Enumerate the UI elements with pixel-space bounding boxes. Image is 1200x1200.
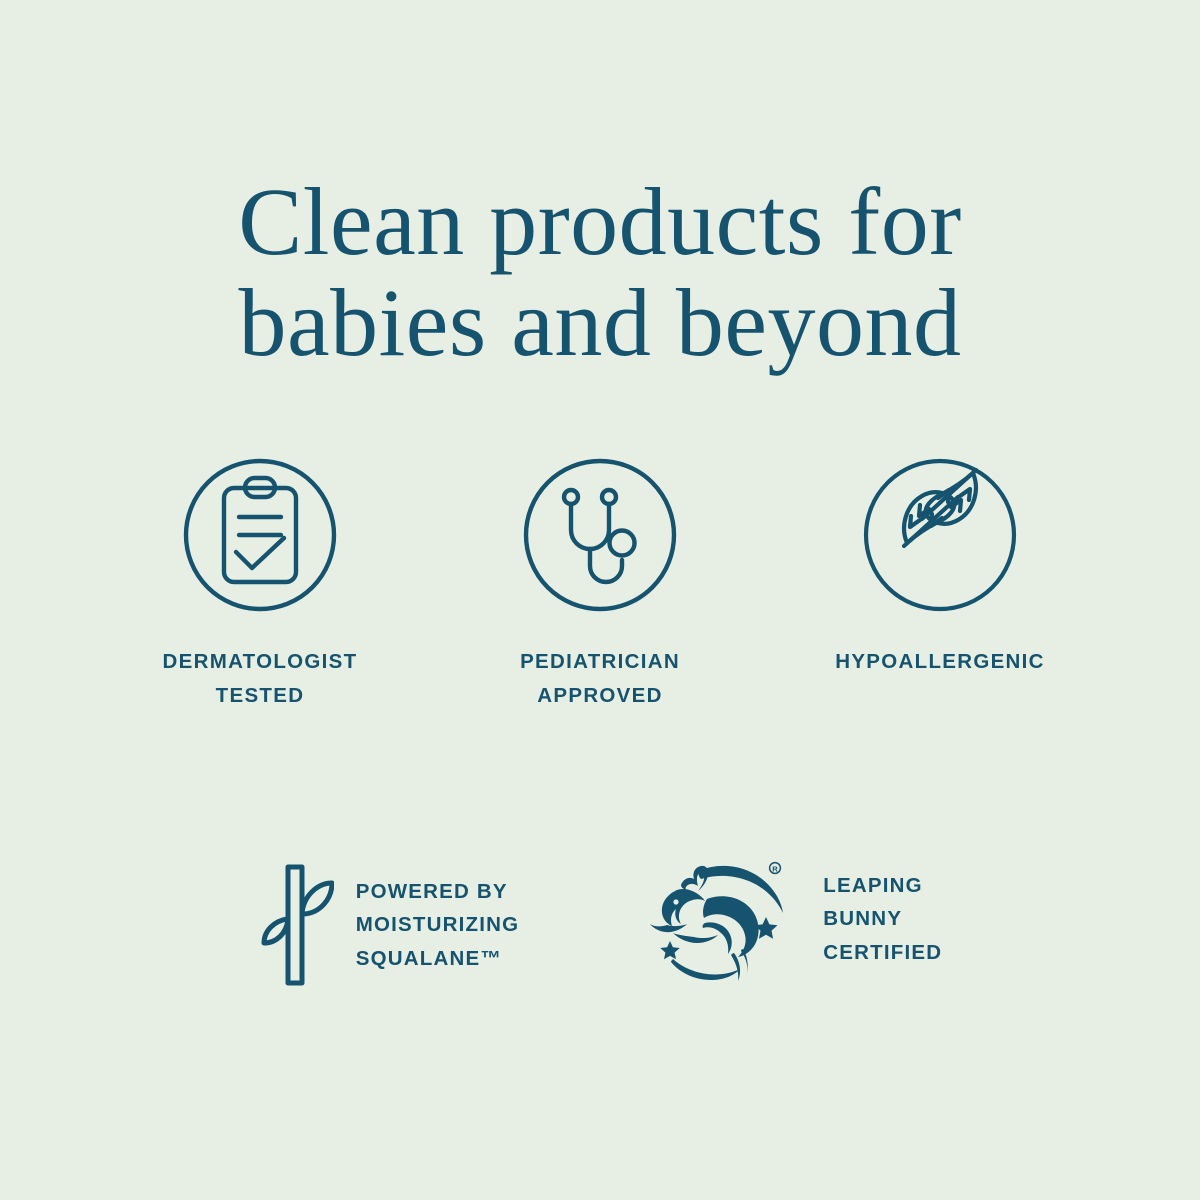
badge-label: DERMATOLOGIST TESTED — [163, 645, 358, 713]
certification-label: LEAPING BUNNY CERTIFIED — [823, 869, 942, 969]
stethoscope-icon — [520, 455, 680, 615]
badge-label: PEDIATRICIAN APPROVED — [520, 645, 680, 713]
badge-label: HYPOALLERGENIC — [835, 645, 1045, 679]
marketing-benefits-panel: Clean products for babies and beyond DER… — [0, 0, 1200, 1200]
leaping-bunny-icon: R — [643, 855, 793, 983]
feathers-icon — [860, 455, 1020, 615]
badge-dermatologist-tested: DERMATOLOGIST TESTED — [90, 455, 430, 713]
squalane-leaf-stem-icon — [258, 855, 334, 995]
certification-label: POWERED BY MOISTURIZING SQUALANE™ — [356, 875, 520, 975]
svg-text:R: R — [773, 865, 779, 874]
certification-row: POWERED BY MOISTURIZING SQUALANE™ — [0, 855, 1200, 995]
badge-hypoallergenic: HYPOALLERGENIC — [770, 455, 1110, 679]
registered-trademark-icon: R — [770, 863, 781, 874]
badge-pediatrician-approved: PEDIATRICIAN APPROVED — [430, 455, 770, 713]
certification-leaping-bunny: R LEAPING BUNNY CERTIFIED — [643, 855, 942, 983]
badge-row: DERMATOLOGIST TESTED PEDIATRICIAN APPROV… — [90, 455, 1110, 713]
page-title: Clean products for babies and beyond — [0, 172, 1200, 374]
clipboard-check-icon — [180, 455, 340, 615]
certification-squalane: POWERED BY MOISTURIZING SQUALANE™ — [258, 855, 520, 995]
